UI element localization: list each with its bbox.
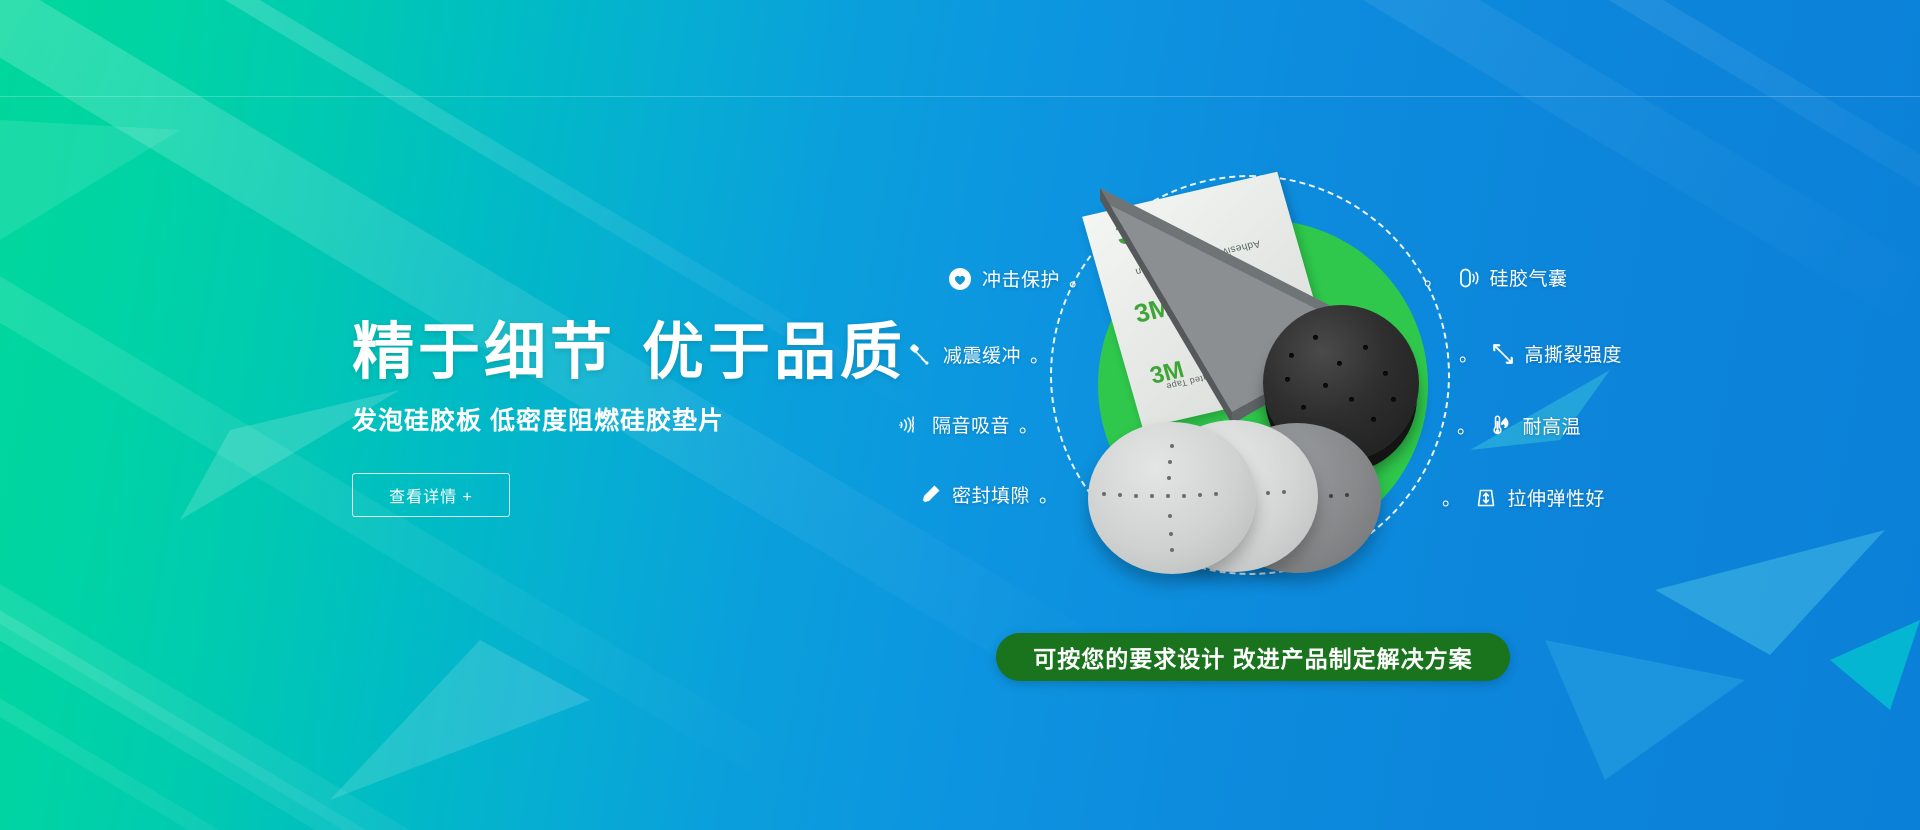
feature-item-heat-resistant[interactable]: 。 耐高温 bbox=[1457, 412, 1581, 439]
triangle-accent bbox=[1545, 640, 1745, 780]
custom-design-banner[interactable]: 可按您的要求设计 改进产品制定解决方案 bbox=[996, 633, 1510, 681]
feature-label: 拉伸弹性好 bbox=[1508, 484, 1606, 511]
feature-item-silicone-airbag[interactable]: 。 硅胶气囊 bbox=[1424, 264, 1568, 291]
feature-dot: 。 bbox=[1019, 411, 1039, 438]
feature-item-tensile-elasticity[interactable]: 。 拉伸弹性好 bbox=[1442, 484, 1605, 511]
feature-item-high-tear-strength[interactable]: 。 高撕裂强度 bbox=[1459, 340, 1622, 367]
sound-wave-icon bbox=[897, 412, 923, 438]
feature-dot: 。 bbox=[1424, 264, 1444, 291]
feature-label: 减震缓冲 bbox=[943, 341, 1021, 368]
airbag-icon bbox=[1455, 265, 1481, 291]
view-details-button[interactable]: 查看详情 + bbox=[352, 473, 510, 517]
feature-label: 高撕裂强度 bbox=[1525, 340, 1623, 367]
expand-arrows-icon bbox=[1490, 341, 1516, 367]
light-streak bbox=[0, 560, 903, 830]
feature-dot: 。 bbox=[1069, 265, 1089, 292]
light-streak bbox=[1416, 0, 1920, 296]
feature-dot: 。 bbox=[1030, 341, 1050, 368]
feature-label: 隔音吸音 bbox=[932, 411, 1010, 438]
page-title: 精于细节优于品质 bbox=[352, 320, 912, 387]
feature-dot: 。 bbox=[1457, 412, 1477, 439]
white-perforated-pad bbox=[1088, 422, 1256, 574]
feature-item-sound-insulation[interactable]: 隔音吸音 。 bbox=[897, 411, 1039, 438]
feature-label: 硅胶气囊 bbox=[1490, 264, 1568, 291]
feature-dot: 。 bbox=[1039, 481, 1059, 508]
shock-absorber-icon bbox=[908, 342, 934, 368]
light-streak bbox=[0, 500, 570, 830]
hero-banner: 精于细节优于品质 发泡硅胶板 低密度阻燃硅胶垫片 查看详情 + 3M Adhes… bbox=[0, 0, 1920, 830]
feature-item-gap-sealing[interactable]: 密封填隙 。 bbox=[917, 481, 1059, 508]
horizontal-divider-line bbox=[0, 96, 1920, 97]
product-image-group: 3M Adhesives & Tape Division 3M Double 3… bbox=[1020, 170, 1480, 610]
feature-dot: 。 bbox=[1459, 340, 1479, 367]
triangle-accent bbox=[1830, 620, 1920, 710]
hero-copy: 精于细节优于品质 发泡硅胶板 低密度阻燃硅胶垫片 查看详情 + bbox=[352, 320, 912, 517]
triangle-accent bbox=[0, 120, 180, 240]
feature-label: 耐高温 bbox=[1523, 412, 1582, 439]
hero-subtitle: 发泡硅胶板 低密度阻燃硅胶垫片 bbox=[352, 401, 912, 437]
feature-label: 冲击保护 bbox=[982, 265, 1060, 292]
feature-item-shock-absorption[interactable]: 减震缓冲 。 bbox=[908, 341, 1050, 368]
shield-heart-icon bbox=[947, 266, 973, 292]
triangle-accent bbox=[330, 640, 590, 800]
sealant-gun-icon bbox=[917, 482, 943, 508]
triangle-accent bbox=[1655, 530, 1885, 660]
feature-item-impact-protection[interactable]: 冲击保护 。 bbox=[947, 265, 1089, 292]
feature-dot: 。 bbox=[1442, 484, 1462, 511]
thermometer-flame-icon bbox=[1488, 413, 1514, 439]
feature-label: 密封填隙 bbox=[952, 481, 1030, 508]
stretch-arrow-icon bbox=[1473, 485, 1499, 511]
headline-part-2: 优于品质 bbox=[642, 318, 906, 387]
headline-part-1: 精于细节 bbox=[352, 318, 616, 387]
